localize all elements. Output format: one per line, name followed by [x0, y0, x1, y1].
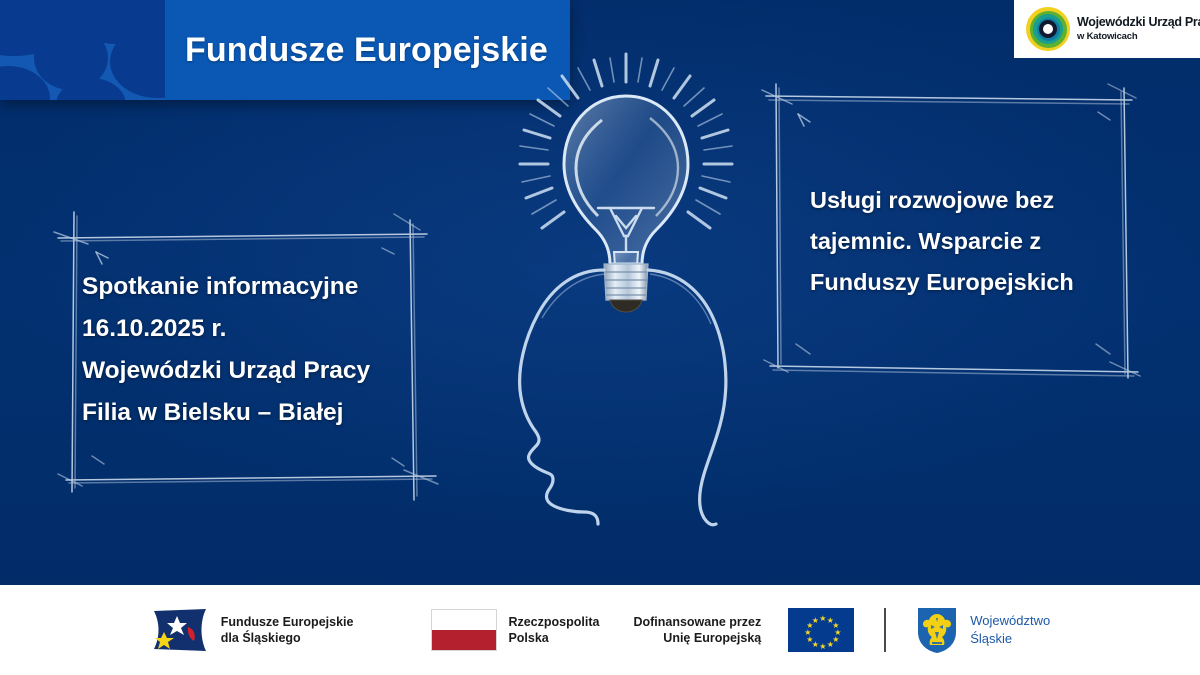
logo-caption-fundusze: Fundusze Europejskie dla Śląskiego	[221, 614, 354, 647]
logo-dofinansowane-przez-ue: Dofinansowane przez Unię Europejską ★ ★ …	[633, 608, 854, 652]
right-panel-text: Usługi rozwojowe bez tajemnic. Wsparcie …	[810, 180, 1110, 303]
banner-decorative-pattern	[0, 0, 165, 100]
footer-divider	[884, 608, 886, 652]
caption-line1: Fundusze Europejskie	[221, 614, 354, 630]
logo-wojewodztwo-slaskie: Województwo Śląskie	[916, 606, 1050, 654]
banner-title: Fundusze Europejskie	[165, 31, 548, 70]
right-panel-line-2: tajemnic. Wsparcie z	[810, 221, 1110, 262]
wup-logo-line2: w Katowicach	[1077, 32, 1200, 43]
caption-line2: Unię Europejską	[633, 630, 761, 646]
footer-logo-bar: Fundusze Europejskie dla Śląskiego Rzecz…	[0, 585, 1200, 675]
right-panel-line-1: Usługi rozwojowe bez	[810, 180, 1110, 221]
caption-line1: Województwo	[970, 612, 1050, 630]
european-union-flag-icon: ★ ★ ★ ★ ★ ★ ★ ★ ★ ★ ★ ★	[788, 608, 854, 652]
wup-logo-line1: Wojewódzki Urząd Pracy	[1077, 15, 1200, 29]
lightbulb-head-illustration	[498, 38, 758, 518]
left-panel-line-4: Filia w Bielsku – Białej	[82, 392, 432, 434]
logo-caption-polska: Rzeczpospolita Polska	[508, 614, 599, 647]
caption-line2: Śląskie	[970, 630, 1050, 648]
logo-caption-wojewodztwo: Województwo Śląskie	[970, 612, 1050, 647]
right-panel-line-3: Funduszy Europejskich	[810, 262, 1110, 303]
poster-canvas: Fundusze Europejskie Wojewódzki Urząd Pr…	[0, 0, 1200, 675]
caption-line1: Dofinansowane przez	[633, 614, 761, 630]
wup-logo-text: Wojewódzki Urząd Pracy w Katowicach	[1077, 15, 1200, 42]
caption-line2: Polska	[508, 630, 599, 646]
poland-flag-icon	[431, 609, 497, 651]
concentric-rings-icon	[1026, 7, 1070, 51]
left-panel-text: Spotkanie informacyjne 16.10.2025 r. Woj…	[82, 266, 432, 434]
fundusze-europejskie-banner: Fundusze Europejskie	[0, 0, 570, 100]
wup-katowice-logo: Wojewódzki Urząd Pracy w Katowicach	[1014, 0, 1200, 58]
caption-line2: dla Śląskiego	[221, 630, 354, 646]
silesia-coat-of-arms-icon	[916, 606, 958, 654]
left-panel-line-1: Spotkanie informacyjne	[82, 266, 432, 308]
eu-funds-flag-icon	[150, 607, 210, 653]
logo-fundusze-europejskie-dla-slaskiego: Fundusze Europejskie dla Śląskiego	[150, 607, 354, 653]
logo-rzeczpospolita-polska: Rzeczpospolita Polska	[387, 609, 599, 651]
logo-caption-ue: Dofinansowane przez Unię Europejską	[633, 614, 761, 647]
left-panel-line-3: Wojewódzki Urząd Pracy	[82, 350, 432, 392]
caption-line1: Rzeczpospolita	[508, 614, 599, 630]
left-panel-line-2: 16.10.2025 r.	[82, 308, 432, 350]
